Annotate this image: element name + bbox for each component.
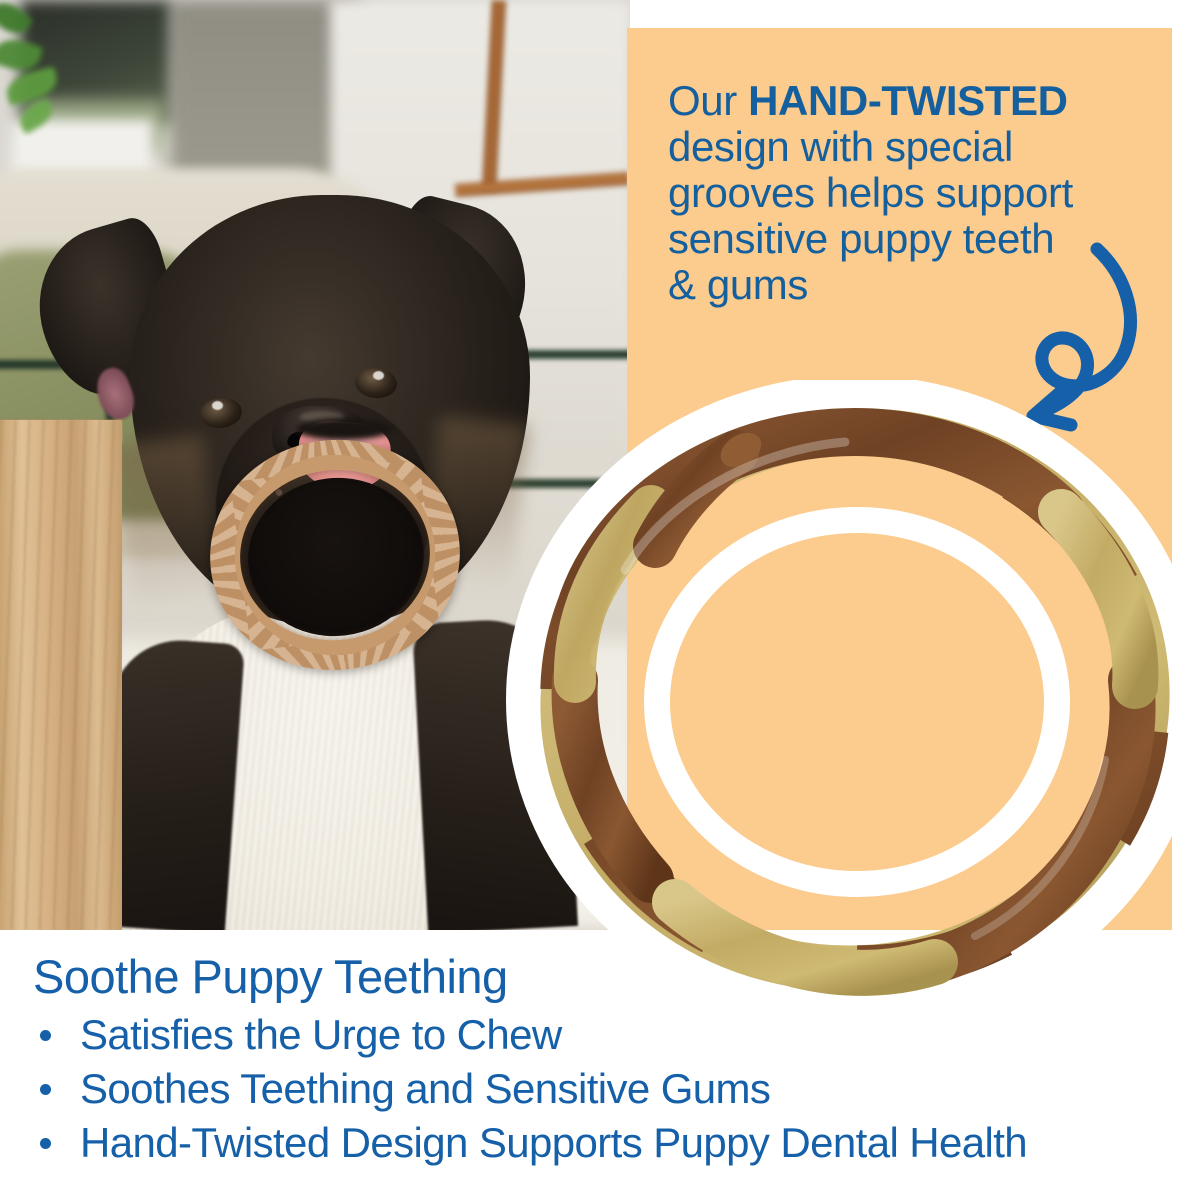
- benefit-text: Hand-Twisted Design Supports Puppy Denta…: [80, 1119, 1027, 1166]
- callout-line-1-prefix: Our: [668, 77, 748, 124]
- bullet-dot-icon: [40, 1138, 51, 1149]
- benefit-item: Soothes Teething and Sensitive Gums: [36, 1062, 1196, 1116]
- benefit-text: Soothes Teething and Sensitive Gums: [80, 1065, 770, 1112]
- puppy-eye-highlight: [373, 371, 384, 380]
- marketing-infographic: Our HAND-TWISTED design with special gro…: [0, 0, 1200, 1200]
- callout-line-3: grooves helps support: [668, 169, 1073, 216]
- puppy-cheek-left: [113, 436, 220, 614]
- benefit-text: Satisfies the Urge to Chew: [80, 1011, 562, 1058]
- benefits-title: Soothe Puppy Teething: [33, 952, 508, 1002]
- benefits-list: Satisfies the Urge to Chew Soothes Teeth…: [36, 1008, 1196, 1170]
- benefits-section: Soothe Puppy Teething Satisfies the Urge…: [0, 930, 1200, 1200]
- puppy-eye-highlight: [212, 401, 223, 410]
- wood-post: [0, 420, 122, 930]
- benefit-item: Hand-Twisted Design Supports Puppy Denta…: [36, 1116, 1196, 1170]
- callout-text: Our HAND-TWISTED design with special gro…: [668, 78, 1098, 308]
- bullet-dot-icon: [40, 1084, 51, 1095]
- callout-line-1-emphasis: HAND-TWISTED: [748, 77, 1068, 124]
- callout-line-2: design with special: [668, 123, 1013, 170]
- puppy-lip-shadow: [296, 418, 392, 440]
- callout-line-4: sensitive puppy teeth: [668, 215, 1054, 262]
- sticker-inner-outline: [657, 520, 1057, 884]
- bullet-dot-icon: [40, 1030, 51, 1041]
- benefit-item: Satisfies the Urge to Chew: [36, 1008, 1196, 1062]
- callout-line-5: & gums: [668, 261, 808, 308]
- product-chew-ring: [505, 380, 1200, 1020]
